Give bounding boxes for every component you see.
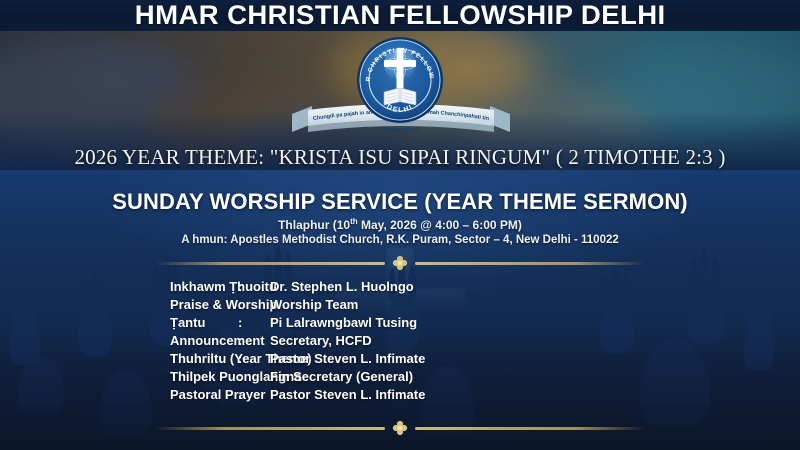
table-row: Announcement : Secretary, HCFD	[0, 333, 800, 351]
program-person-name: Pastor Steven L. Infimate	[270, 351, 425, 366]
table-row: Thilpek Puonglangna : Fin Secretary (Gen…	[0, 369, 800, 387]
quatrefoil-ornament-icon	[392, 420, 408, 436]
program-separator: :	[225, 387, 270, 402]
program-person-name: Secretary, HCFD	[270, 333, 372, 348]
divider-rule-right	[415, 262, 645, 265]
program-item-label: Praise & Worship	[0, 297, 225, 312]
service-date-ordinal: th	[350, 217, 358, 226]
service-date-prefix: (10	[333, 218, 350, 232]
program-person-name: Dr. Stephen L. Huolngo	[270, 279, 414, 294]
divider-top	[0, 255, 800, 271]
header-band: HMAR CHRISTIAN FELLOWSHIP DELHI	[0, 0, 800, 31]
program-list: Inkhawm Ṭhuoitu : Dr. Stephen L. Huolngo…	[0, 279, 800, 405]
table-row: Pastoral Prayer : Pastor Steven L. Infim…	[0, 387, 800, 405]
program-item-label: Announcement	[0, 333, 225, 348]
program-person-name: Worship Team	[270, 297, 358, 312]
service-datetime: Thlaphur (10th May, 2026 @ 4:00 – 6:00 P…	[0, 217, 800, 232]
service-venue: A hmun: Apostles Methodist Church, R.K. …	[0, 234, 800, 246]
service-title: SUNDAY WORSHIP SERVICE (YEAR THEME SERMO…	[0, 189, 800, 215]
service-date-rest: May, 2026 @ 4:00 – 6:00 PM)	[358, 218, 522, 232]
program-separator: :	[225, 279, 270, 294]
divider-rule-right	[415, 427, 645, 430]
program-separator: :	[225, 333, 270, 348]
program-person-name: Fin Secretary (General)	[270, 369, 413, 384]
divider-bottom	[0, 420, 800, 436]
program-person-name: Pi Lalrawngbawl Tusing	[270, 315, 417, 330]
divider-rule-left	[155, 427, 385, 430]
year-theme-text: 2026 YEAR THEME: "KRISTA ISU SIPAI RINGU…	[0, 145, 800, 170]
service-day: Thlaphur	[278, 218, 329, 232]
table-row: Praise & Worship : Worship Team	[0, 297, 800, 315]
program-separator: :	[225, 369, 270, 384]
page-title: HMAR CHRISTIAN FELLOWSHIP DELHI	[135, 0, 666, 31]
organization-logo: HMAR CHRISTIAN FELLOWSHIP DELHI	[356, 36, 444, 124]
table-row: Ṭantu : Pi Lalrawngbawl Tusing	[0, 315, 800, 333]
program-item-label: Thuhriltu (Year Theme)	[0, 351, 225, 366]
table-row: Inkhawm Ṭhuoitu : Dr. Stephen L. Huolngo	[0, 279, 800, 297]
ribbon-reference-text: Marka 16:15	[384, 128, 419, 134]
program-item-label: Pastoral Prayer	[0, 387, 225, 402]
program-separator: :	[225, 315, 270, 330]
divider-rule-left	[155, 262, 385, 265]
program-item-label: Thilpek Puonglangna	[0, 369, 225, 384]
church-service-poster: HMAR CHRISTIAN FELLOWSHIP DELHI Chungdi …	[0, 0, 800, 450]
program-item-label: Ṭantu	[0, 315, 225, 330]
table-row: Thuhriltu (Year Theme) : Pastor Steven L…	[0, 351, 800, 369]
program-item-label: Inkhawm Ṭhuoitu	[0, 279, 225, 294]
program-separator: :	[225, 351, 270, 366]
quatrefoil-ornament-icon	[392, 255, 408, 271]
program-separator: :	[225, 297, 270, 312]
program-person-name: Pastor Steven L. Infimate	[270, 387, 425, 402]
